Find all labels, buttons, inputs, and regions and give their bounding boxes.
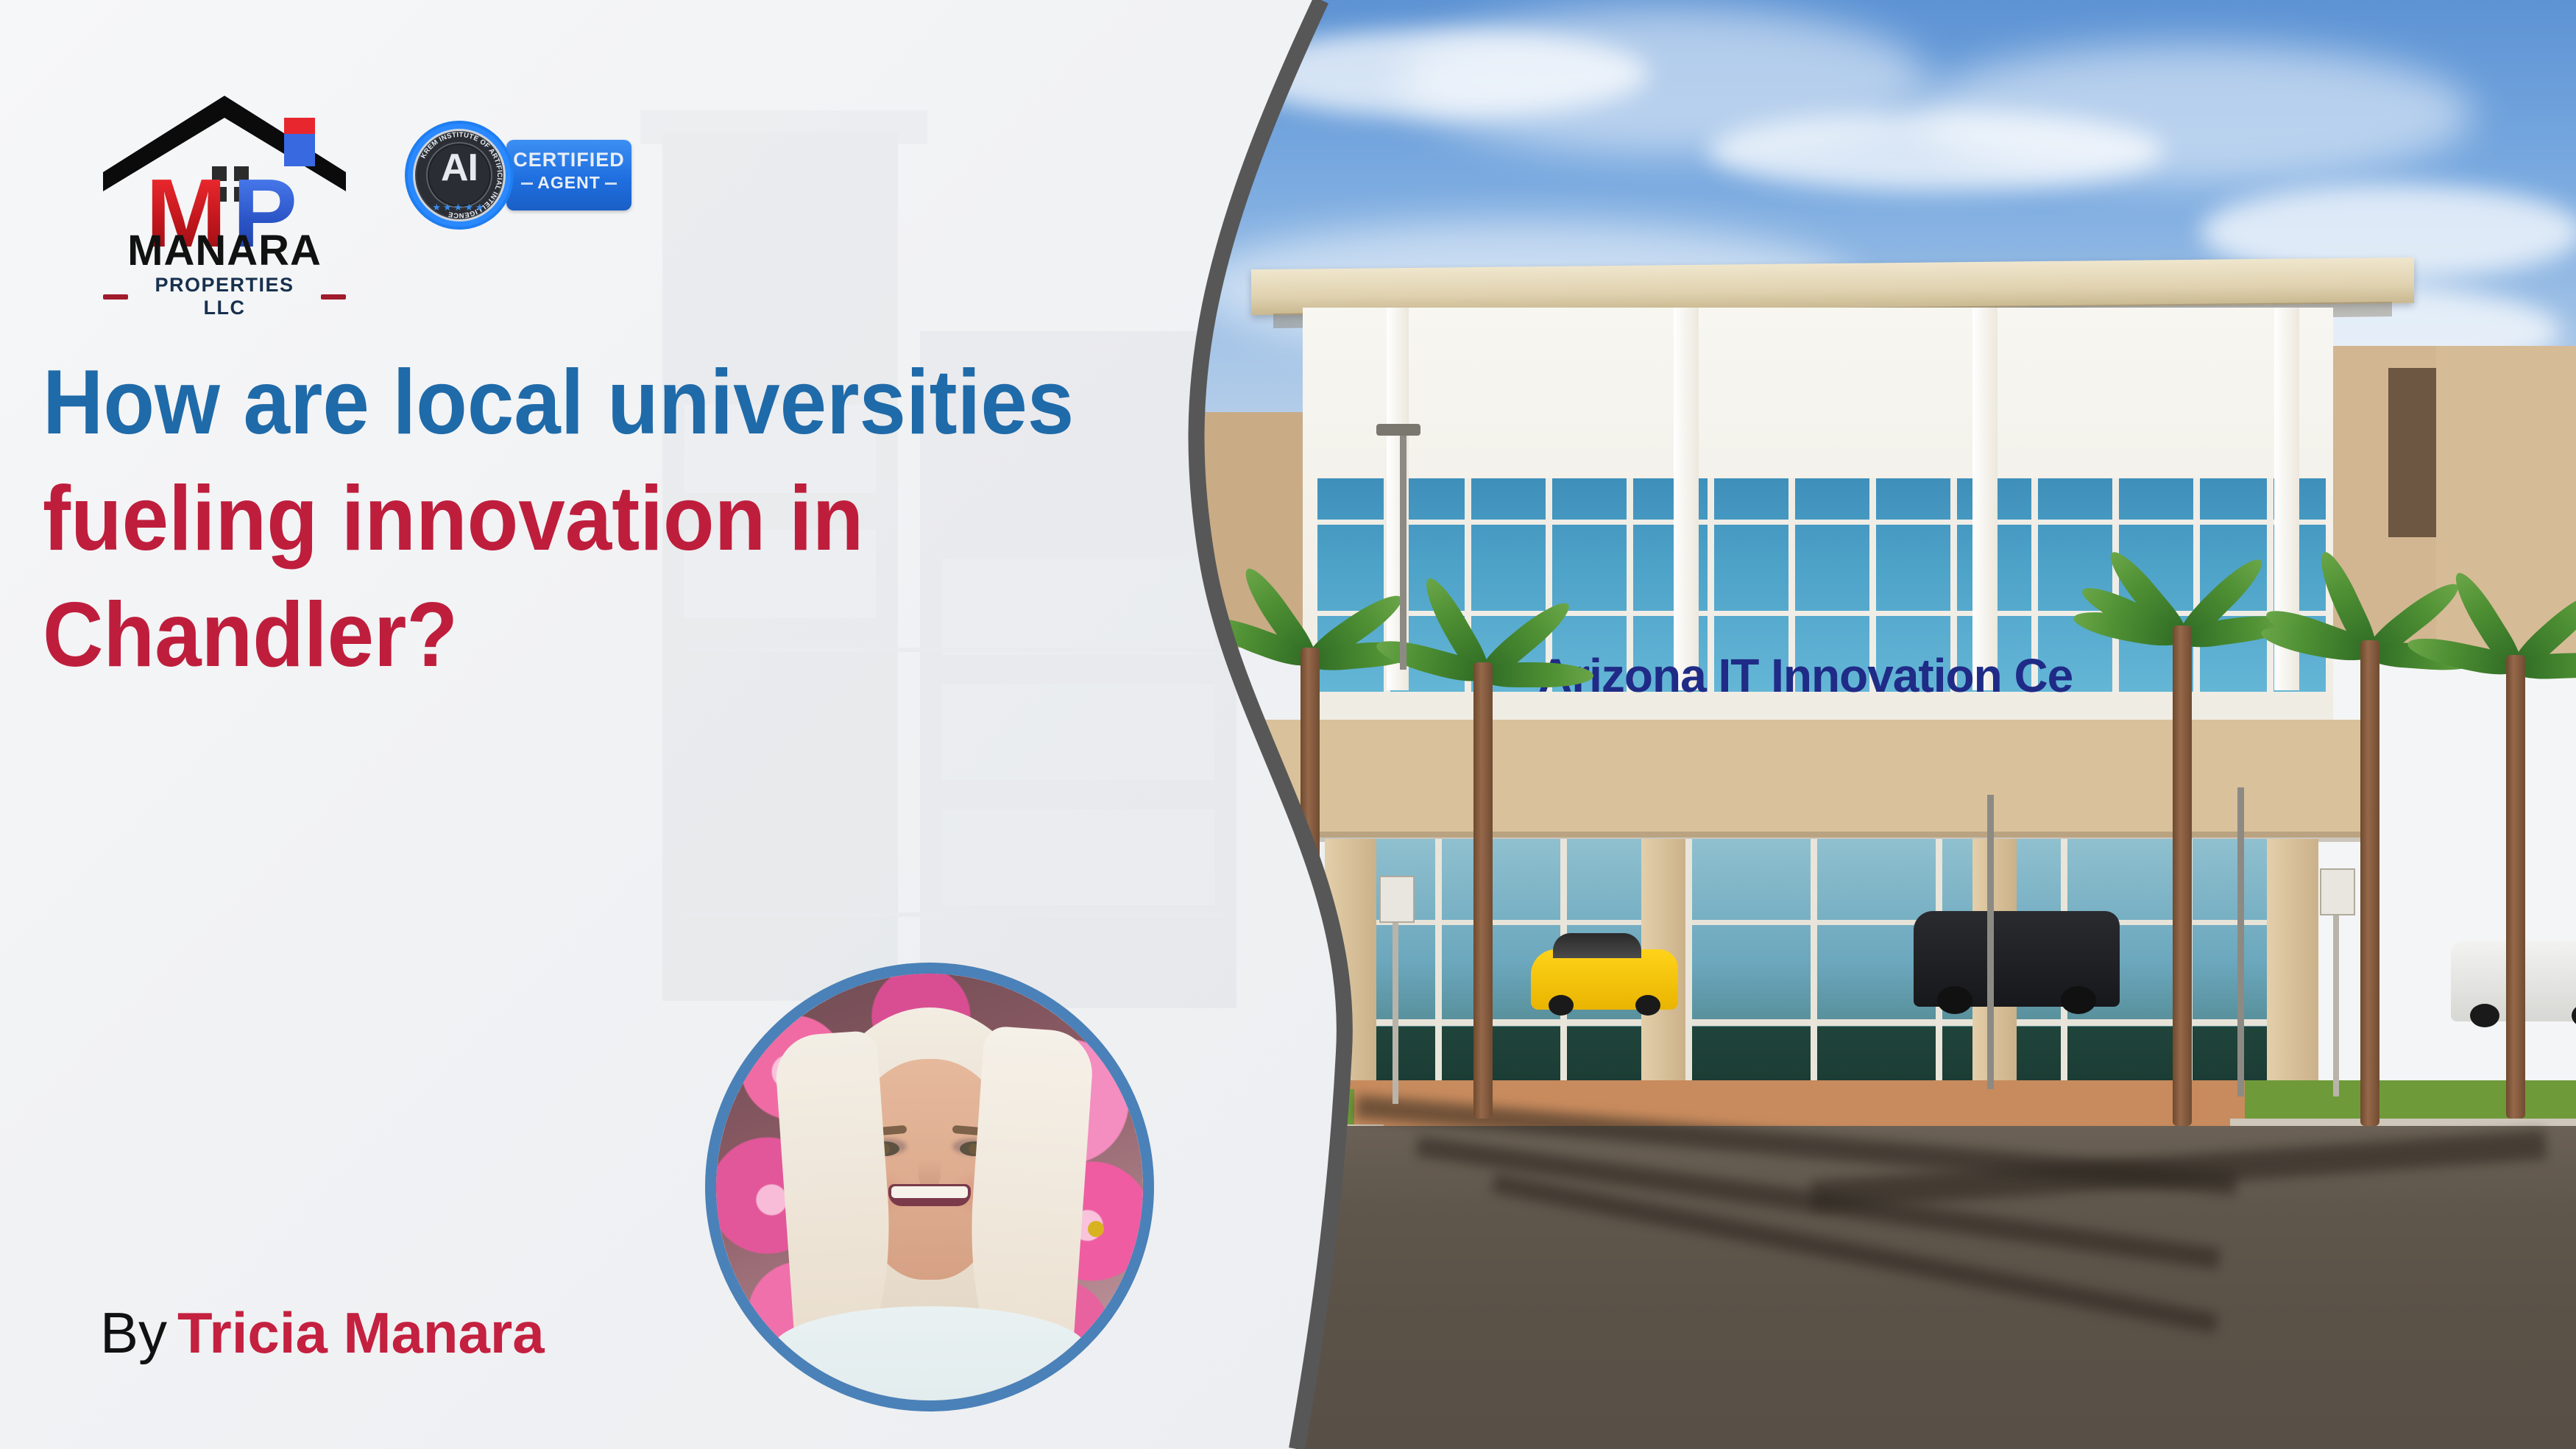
road bbox=[1148, 1126, 2576, 1449]
shirt bbox=[771, 1306, 1088, 1400]
light-pole bbox=[1400, 427, 1406, 670]
logo-company-subtitle: PROPERTIES LLC bbox=[134, 274, 315, 319]
manara-properties-logo[interactable]: M P MANARA PROPERTIES LLC bbox=[103, 74, 346, 287]
avatar-image bbox=[716, 974, 1143, 1400]
headline-line-3: Chandler? bbox=[43, 577, 1167, 693]
headline-line-2: fueling innovation in bbox=[43, 461, 1167, 577]
byline: ByTricia Manara bbox=[100, 1301, 545, 1364]
parking-sign-icon bbox=[1379, 876, 1415, 923]
rule-right-icon bbox=[321, 294, 346, 300]
palm-tree bbox=[2451, 655, 2576, 1119]
byline-author: Tricia Manara bbox=[177, 1300, 545, 1365]
badge-agent-label: AGENT bbox=[506, 173, 631, 193]
logo-company-name: MANARA bbox=[103, 230, 346, 272]
right-building-tower bbox=[2436, 346, 2576, 655]
headline: How are local universities fueling innov… bbox=[43, 344, 1264, 693]
palm-tree bbox=[2112, 626, 2252, 1126]
logo-subtitle-row: PROPERTIES LLC bbox=[103, 274, 346, 319]
seal-stars-icon: ★★★★★ bbox=[403, 202, 515, 213]
parking-sign-icon bbox=[2320, 868, 2355, 915]
light-pole bbox=[1987, 795, 1994, 1089]
ai-seal-icon: KREM INSTITUTE OF ARTIFICIAL INTELLIGENC… bbox=[403, 119, 515, 231]
seal-ai-text: AI bbox=[403, 149, 515, 187]
light-pole bbox=[2237, 787, 2244, 1097]
author-avatar[interactable] bbox=[705, 963, 1154, 1411]
ai-certified-agent-badge[interactable]: CERTIFIED AGENT KREM INST bbox=[397, 110, 633, 243]
yellow-sports-car bbox=[1531, 949, 1678, 1010]
black-suv bbox=[1914, 911, 2120, 1007]
badge-certified-label: CERTIFIED bbox=[506, 149, 631, 171]
byline-prefix: By bbox=[100, 1300, 167, 1365]
blog-header-graphic: M P MANARA PROPERTIES LLC CERTIFIED AGEN… bbox=[0, 0, 2576, 1449]
palm-tree bbox=[1420, 662, 1546, 1119]
building-sign: Arizona IT Innovation Ce bbox=[1538, 642, 2142, 709]
certified-agent-tag: CERTIFIED AGENT bbox=[506, 140, 631, 210]
light-fixture-icon bbox=[1376, 424, 1420, 436]
rule-left-icon bbox=[103, 294, 128, 300]
headline-line-1: How are local universities bbox=[43, 344, 1167, 461]
